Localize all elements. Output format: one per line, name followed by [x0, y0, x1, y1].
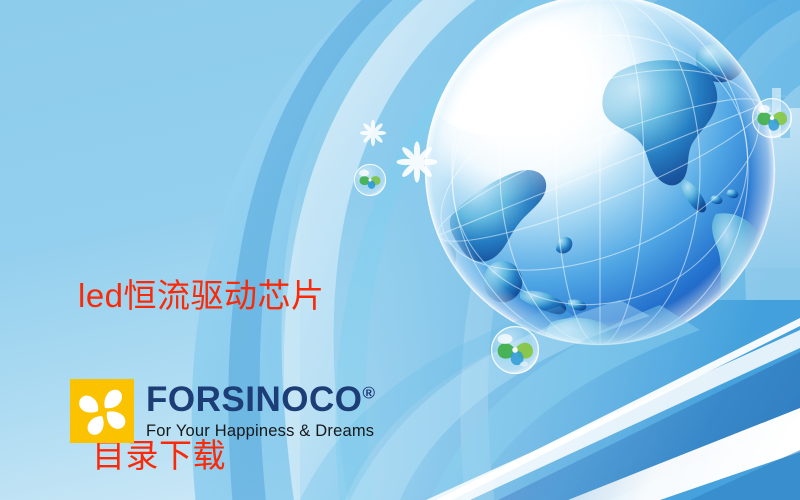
brand-logo-lockup[interactable]: FORSINOCO® For Your Happiness & Dreams — [70, 379, 375, 443]
flower-sparkle-small — [360, 120, 386, 146]
promotional-banner: led恒流驱动芯片 目录下载 FORSINOCO® For Your Ha — [0, 0, 800, 500]
brand-name: FORSINOCO — [146, 380, 362, 419]
emblem-bubble-right — [752, 98, 792, 138]
emblem-bubble-lower — [491, 326, 539, 374]
headline-line-1: led恒流驱动芯片 — [78, 269, 325, 322]
logo-text-block: FORSINOCO® For Your Happiness & Dreams — [146, 379, 375, 440]
registered-trademark-symbol: ® — [362, 383, 375, 402]
emblem-bubble-left — [354, 164, 386, 196]
headline-text: led恒流驱动芯片 目录下载 — [78, 162, 325, 500]
brand-tagline: For Your Happiness & Dreams — [146, 423, 375, 440]
pinwheel-icon — [70, 379, 134, 443]
forsinoco-pinwheel-mark — [70, 379, 134, 443]
flower-sparkle-large — [397, 142, 438, 183]
brand-wordmark: FORSINOCO® — [146, 382, 375, 417]
